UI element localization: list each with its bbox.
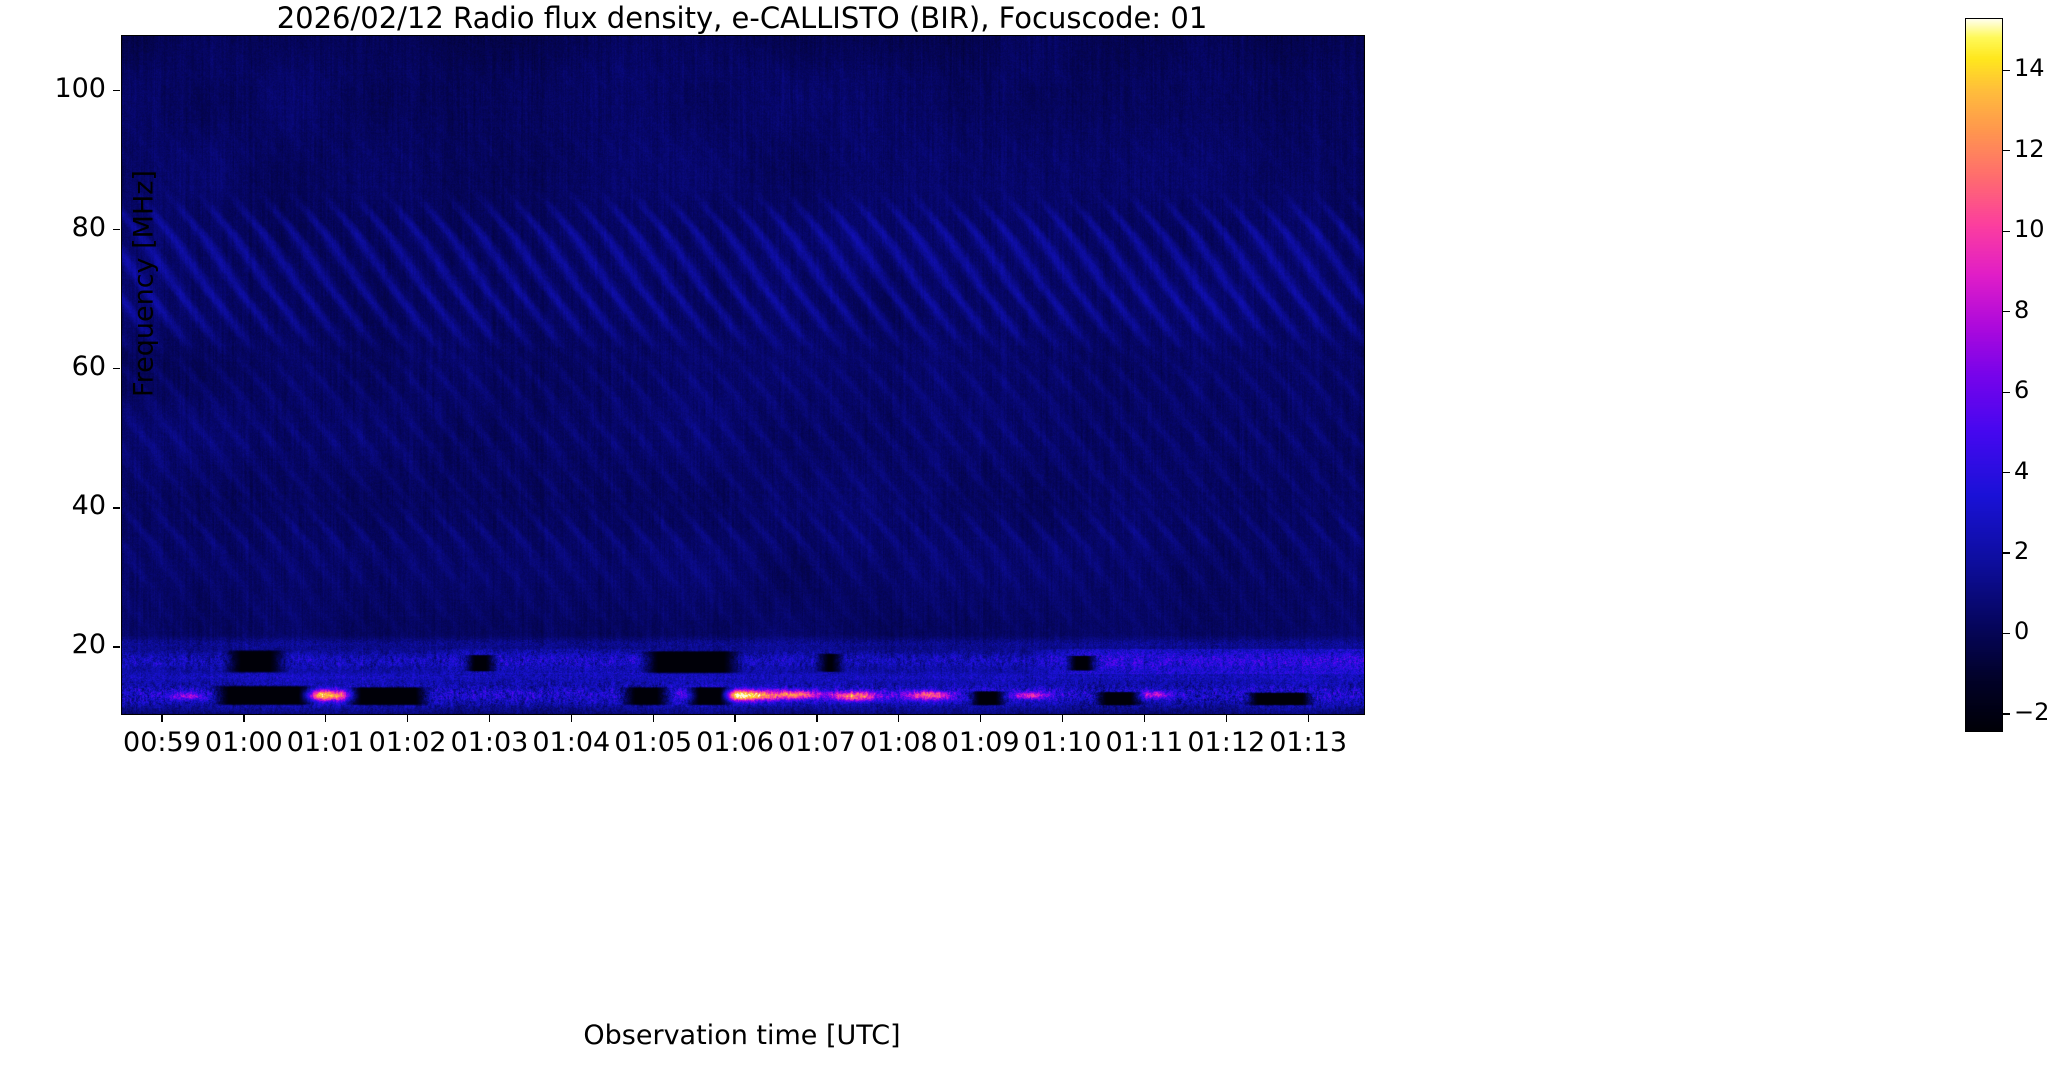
x-tick-mark — [1144, 715, 1145, 722]
colorbar-tick-mark — [2003, 713, 2010, 714]
colorbar-gradient — [1966, 19, 2002, 731]
colorbar-tick-label: 6 — [2014, 376, 2029, 404]
x-tick-label: 01:13 — [1248, 727, 1368, 758]
colorbar-tick-mark — [2003, 231, 2010, 232]
figure-root: 2026/02/12 Radio flux density, e-CALLIST… — [0, 0, 2066, 1067]
x-tick-mark — [243, 715, 244, 722]
colorbar-tick-label: 4 — [2014, 457, 2029, 485]
spectrogram-plot-area[interactable] — [121, 35, 1365, 715]
x-tick-mark — [1226, 715, 1227, 722]
y-tick-label: 40 — [72, 490, 106, 521]
x-tick-mark — [816, 715, 817, 722]
y-tick-mark — [113, 368, 120, 369]
y-tick-mark — [113, 507, 120, 508]
y-tick-label: 60 — [72, 351, 106, 382]
x-tick-mark — [980, 715, 981, 722]
colorbar[interactable] — [1965, 18, 2003, 732]
x-tick-mark — [734, 715, 735, 722]
y-tick-label: 100 — [54, 73, 106, 104]
colorbar-tick-label: 0 — [2014, 617, 2029, 645]
x-tick-mark — [653, 715, 654, 722]
y-tick-mark — [113, 90, 120, 91]
y-tick-mark — [113, 229, 120, 230]
y-tick-label: 20 — [72, 629, 106, 660]
y-tick-label: 80 — [72, 212, 106, 243]
x-tick-mark — [571, 715, 572, 722]
x-tick-mark — [1062, 715, 1063, 722]
colorbar-tick-label: 14 — [2014, 54, 2045, 82]
y-tick-mark — [113, 646, 120, 647]
page-title: 2026/02/12 Radio flux density, e-CALLIST… — [121, 2, 1363, 34]
x-axis-label: Observation time [UTC] — [121, 1020, 1363, 1051]
colorbar-tick-label: 8 — [2014, 296, 2029, 324]
colorbar-tick-label: −2 — [2014, 698, 2049, 726]
x-tick-mark — [325, 715, 326, 722]
x-tick-mark — [898, 715, 899, 722]
x-tick-mark — [161, 715, 162, 722]
colorbar-tick-mark — [2003, 150, 2010, 151]
y-axis-label: Frequency [MHz] — [129, 134, 160, 434]
colorbar-tick-mark — [2003, 311, 2010, 312]
colorbar-tick-label: 10 — [2014, 215, 2045, 243]
x-tick-mark — [1308, 715, 1309, 722]
colorbar-tick-label: 12 — [2014, 135, 2045, 163]
x-tick-mark — [489, 715, 490, 722]
x-tick-mark — [407, 715, 408, 722]
spectrogram-canvas — [122, 36, 1364, 714]
colorbar-tick-mark — [2003, 392, 2010, 393]
colorbar-tick-mark — [2003, 70, 2010, 71]
colorbar-tick-mark — [2003, 633, 2010, 634]
colorbar-tick-label: 2 — [2014, 537, 2029, 565]
colorbar-tick-mark — [2003, 552, 2010, 553]
colorbar-tick-mark — [2003, 472, 2010, 473]
